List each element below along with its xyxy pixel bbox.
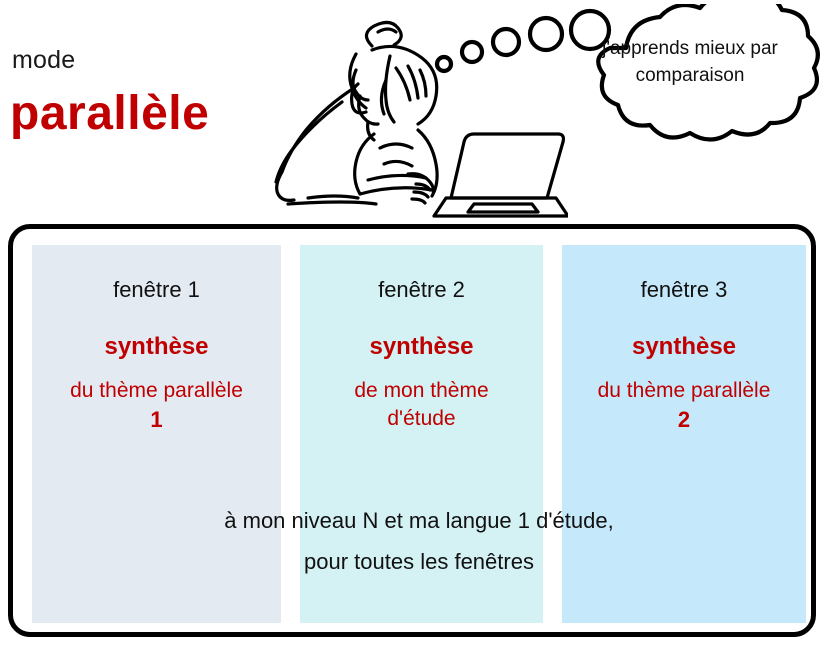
panel-3-subtitle: du thème parallèle	[562, 377, 806, 405]
panel-2-number: d'étude	[300, 405, 543, 433]
window-panel-2[interactable]: fenêtre 2 synthèse de mon thème d'étude	[300, 245, 543, 623]
panel-2-synthese: synthèse	[300, 333, 543, 361]
panel-1-subtitle: du thème parallèle	[32, 377, 281, 405]
window-panel-1[interactable]: fenêtre 1 synthèse du thème parallèle 1	[32, 245, 281, 623]
thought-bubble-text: j'apprends mieux par comparaison	[595, 36, 785, 90]
window-panel-3[interactable]: fenêtre 3 synthèse du thème parallèle 2	[562, 245, 806, 623]
panels-row: fenêtre 1 synthèse du thème parallèle 1 …	[32, 245, 806, 623]
panel-1-synthese: synthèse	[32, 333, 281, 361]
panel-1-title: fenêtre 1	[32, 277, 281, 303]
panel-2-title: fenêtre 2	[300, 277, 543, 303]
panel-3-number: 2	[562, 405, 806, 435]
panel-1-number: 1	[32, 405, 281, 435]
header: mode parallèle	[0, 0, 829, 222]
panel-2-subtitle: de mon thème	[300, 377, 543, 405]
page-title: parallèle	[10, 86, 209, 141]
mode-label: mode	[12, 46, 75, 75]
panel-3-synthese: synthèse	[562, 333, 806, 361]
panel-3-title: fenêtre 3	[562, 277, 806, 303]
windows-container: fenêtre 1 synthèse du thème parallèle 1 …	[8, 224, 816, 637]
